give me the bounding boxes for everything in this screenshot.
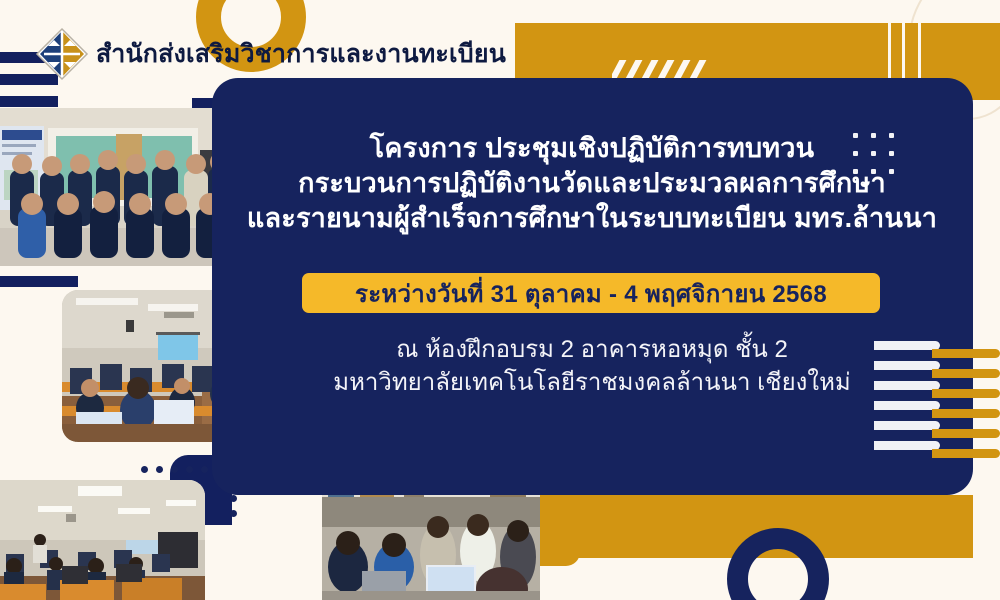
event-title: โครงการ ประชุมเชิงปฏิบัติการทบทวน กระบวน… <box>232 131 952 236</box>
event-title-line-3: และรายนามผู้สำเร็จการศึกษาในระบบทะเบียน … <box>232 201 952 236</box>
computer-lab-training-2 <box>0 480 205 600</box>
right-bar-decoration <box>874 341 1000 453</box>
event-location-line-2: มหาวิทยาลัยเทคโนโลยีราชมงคลล้านนา เชียงใ… <box>282 366 902 399</box>
event-date-text: ระหว่างวันที่ 31 ตุลาคม - 4 พฤศจิกายน 25… <box>355 274 827 313</box>
poster-canvas: โครงการ ประชุมเชิงปฏิบัติการทบทวน กระบวน… <box>0 0 1000 600</box>
event-location-line-1: ณ ห้องฝึกอบรม 2 อาคารหอหมุด ชั้น 2 <box>282 333 902 366</box>
computer-lab-training-2-image <box>0 480 205 600</box>
office-logo-icon <box>34 26 90 82</box>
event-location: ณ ห้องฝึกอบรม 2 อาคารหอหมุด ชั้น 2 มหาวิ… <box>282 333 902 399</box>
office-logo-svg <box>34 26 90 82</box>
event-date-banner: ระหว่างวันที่ 31 ตุลาคม - 4 พฤศจิกายน 25… <box>302 273 880 313</box>
event-title-line-2: กระบวนการปฏิบัติงานวัดและประมวลผลการศึกษ… <box>232 166 952 201</box>
organization-name: สำนักส่งเสริมวิชาการและงานทะเบียน <box>96 34 506 74</box>
group-photo-team-image <box>0 108 238 266</box>
event-title-line-1: โครงการ ประชุมเชิงปฏิบัติการทบทวน <box>232 131 952 166</box>
group-photo-team <box>0 108 238 266</box>
